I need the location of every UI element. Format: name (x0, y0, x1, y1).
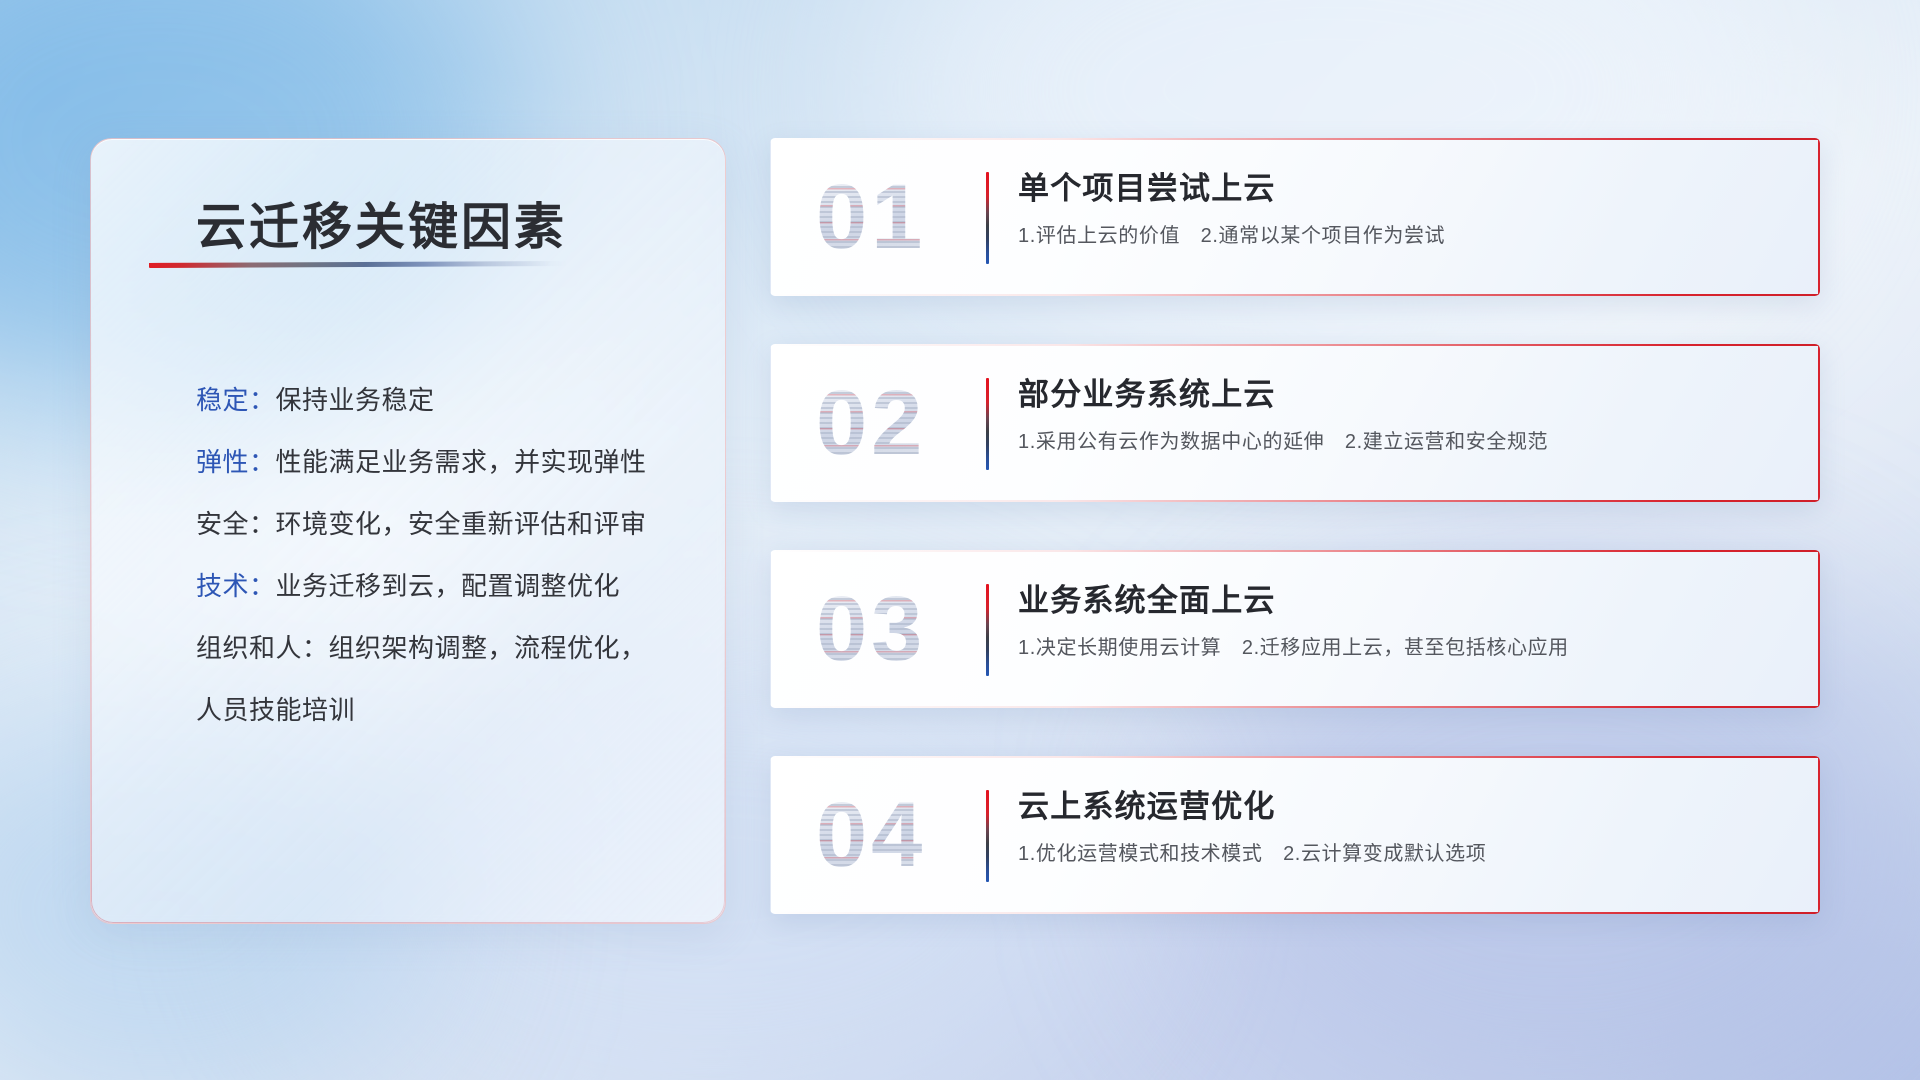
step-body: 云上系统运营优化 1.优化运营模式和技术模式 2.云计算变成默认选项 (1018, 788, 1794, 868)
title-underline-rule (149, 261, 567, 268)
card-right-edge (1818, 756, 1820, 914)
card-top-edge (770, 550, 1820, 552)
factor-item: 人员技能培训 (196, 679, 685, 741)
step-body: 单个项目尝试上云 1.评估上云的价值 2.通常以某个项目作为尝试 (1018, 170, 1794, 250)
factor-list: 稳定：保持业务稳定弹性：性能满足业务需求，并实现弹性安全：环境变化，安全重新评估… (196, 369, 685, 741)
factor-item: 稳定：保持业务稳定 (196, 369, 685, 431)
card-left-edge (770, 138, 771, 296)
factor-text: 保持业务稳定 (276, 385, 435, 415)
panel-title: 云迁移关键因素 (196, 187, 567, 259)
step-card[interactable]: 02 02 部分业务系统上云 1.采用公有云作为数据中心的延伸 2.建立运营和安… (770, 344, 1820, 502)
card-top-edge (770, 138, 1820, 140)
step-subtitle: 1.优化运营模式和技术模式 2.云计算变成默认选项 (1018, 840, 1794, 868)
step-title: 单个项目尝试上云 (1018, 170, 1794, 209)
card-top-edge (770, 756, 1820, 758)
step-body: 业务系统全面上云 1.决定长期使用云计算 2.迁移应用上云，甚至包括核心应用 (1018, 582, 1794, 662)
factor-label: 稳定： (196, 385, 276, 415)
factor-text: 组织架构调整，流程优化， (329, 633, 647, 663)
step-card[interactable]: 04 04 云上系统运营优化 1.优化运营模式和技术模式 2.云计算变成默认选项 (770, 756, 1820, 914)
card-right-edge (1818, 550, 1820, 708)
factor-item: 组织和人：组织架构调整，流程优化， (196, 617, 685, 679)
step-body: 部分业务系统上云 1.采用公有云作为数据中心的延伸 2.建立运营和安全规范 (1018, 376, 1794, 456)
card-left-edge (770, 550, 771, 708)
step-number-ghost: 04 (816, 789, 926, 881)
card-bottom-edge (770, 294, 1820, 296)
step-subtitle: 1.采用公有云作为数据中心的延伸 2.建立运营和安全规范 (1018, 428, 1794, 456)
factor-item: 弹性：性能满足业务需求，并实现弹性 (196, 431, 685, 493)
step-divider-bar (986, 584, 989, 676)
card-top-edge (770, 344, 1820, 346)
factor-text: 环境变化，安全重新评估和评审 (276, 509, 647, 539)
factor-label: 弹性： (196, 447, 276, 477)
factor-text: 业务迁移到云，配置调整优化 (276, 571, 621, 601)
card-right-edge (1818, 138, 1820, 296)
card-left-edge (770, 344, 771, 502)
card-left-edge (770, 756, 771, 914)
factor-label: 技术： (196, 571, 276, 601)
step-title: 部分业务系统上云 (1018, 376, 1794, 415)
step-subtitle: 1.决定长期使用云计算 2.迁移应用上云，甚至包括核心应用 (1018, 634, 1794, 662)
card-right-edge (1818, 344, 1820, 502)
key-factors-panel: 云迁移关键因素 稳定：保持业务稳定弹性：性能满足业务需求，并实现弹性安全：环境变… (90, 138, 726, 924)
factor-text: 人员技能培训 (196, 695, 355, 725)
step-number-ghost: 03 (816, 583, 926, 675)
step-title: 云上系统运营优化 (1018, 788, 1794, 827)
step-number-ghost: 01 (816, 171, 926, 263)
step-divider-bar (986, 172, 989, 264)
factor-label: 安全： (196, 509, 276, 539)
step-card[interactable]: 01 01 单个项目尝试上云 1.评估上云的价值 2.通常以某个项目作为尝试 (770, 138, 1820, 296)
factor-label: 组织和人： (196, 633, 329, 663)
card-bottom-edge (770, 500, 1820, 502)
factor-item: 技术：业务迁移到云，配置调整优化 (196, 555, 685, 617)
step-card[interactable]: 03 03 业务系统全面上云 1.决定长期使用云计算 2.迁移应用上云，甚至包括… (770, 550, 1820, 708)
factor-item: 安全：环境变化，安全重新评估和评审 (196, 493, 685, 555)
factor-text: 性能满足业务需求，并实现弹性 (276, 447, 647, 477)
slide-canvas: 云迁移关键因素 稳定：保持业务稳定弹性：性能满足业务需求，并实现弹性安全：环境变… (0, 0, 1920, 1080)
step-title: 业务系统全面上云 (1018, 582, 1794, 621)
step-subtitle: 1.评估上云的价值 2.通常以某个项目作为尝试 (1018, 222, 1794, 250)
step-divider-bar (986, 378, 989, 470)
card-bottom-edge (770, 912, 1820, 914)
step-number-ghost: 02 (816, 377, 926, 469)
step-divider-bar (986, 790, 989, 882)
card-bottom-edge (770, 706, 1820, 708)
